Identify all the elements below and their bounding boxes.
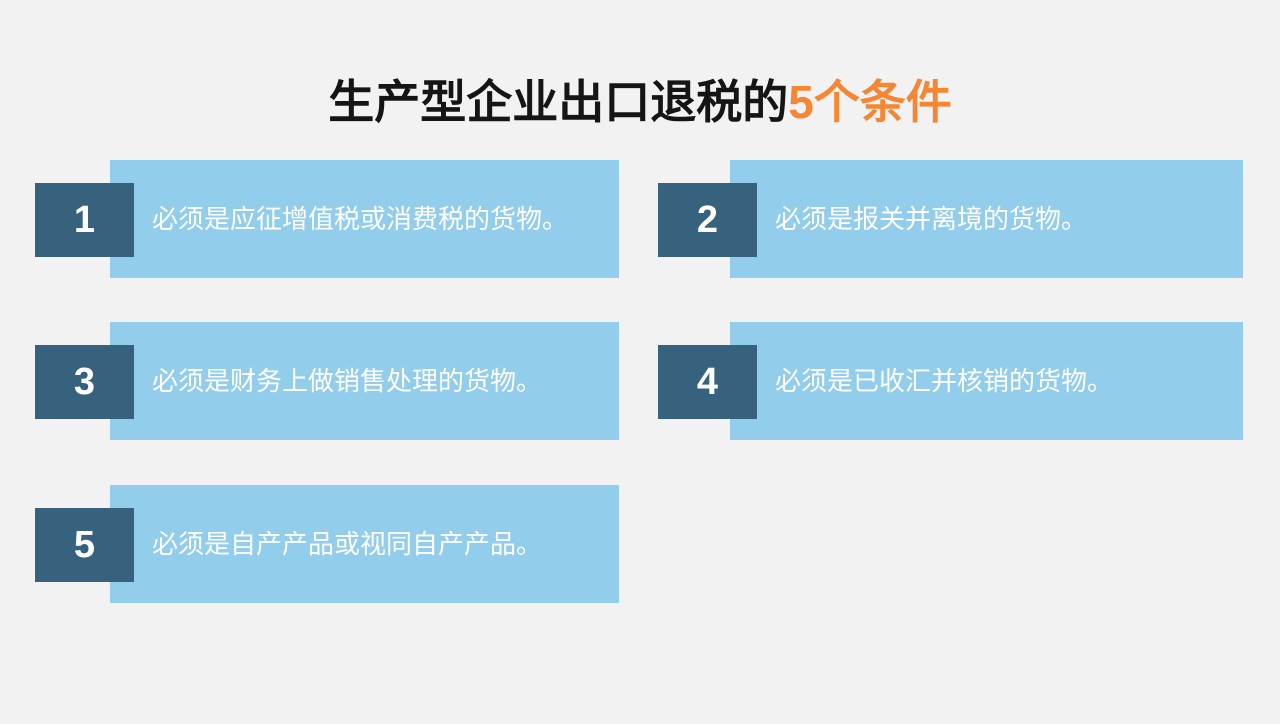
condition-card-3-text: 必须是财务上做销售处理的货物。 [152,322,604,440]
condition-card-3-number-badge: 3 [35,345,134,419]
condition-card-5-number-badge: 5 [35,508,134,582]
condition-card-4-number-badge: 4 [658,345,757,419]
condition-card-2-text: 必须是报关并离境的货物。 [775,160,1235,278]
condition-card-1-number-badge: 1 [35,183,134,257]
condition-card-4-text: 必须是已收汇并核销的货物。 [775,322,1235,440]
condition-card-1-text: 必须是应征增值税或消费税的货物。 [152,160,604,278]
condition-card-2-number-badge: 2 [658,183,757,257]
slide-canvas: 生产型企业出口退税的5个条件 必须是应征增值税或消费税的货物。 1 必须是报关并… [0,0,1280,724]
condition-card-5-text: 必须是自产产品或视同自产产品。 [152,485,604,603]
condition-card-list: 必须是应征增值税或消费税的货物。 1 必须是报关并离境的货物。 2 必须是财务上… [0,0,1280,724]
